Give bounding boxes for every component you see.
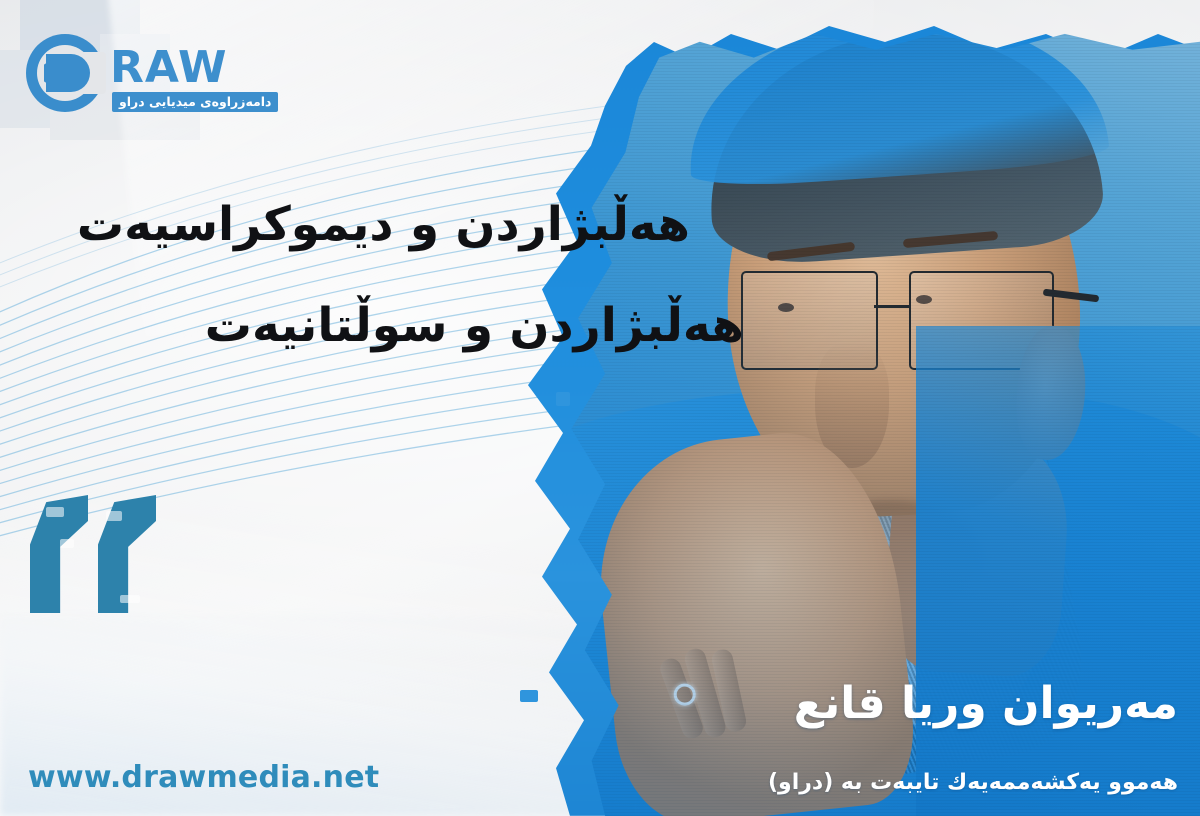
website-url[interactable]: www.drawmedia.net <box>28 760 379 795</box>
double-quote-icon <box>24 495 174 615</box>
speaker-subtitle: هەموو یەکشەممەیەك تایبەت بە (دراو) <box>538 770 1178 795</box>
quote-texture-speck <box>60 539 74 548</box>
logo-subtitle: دامەزراوەی میدیایی دراو <box>112 92 278 112</box>
logo-d-shape <box>46 54 90 92</box>
quote-glyph-right <box>98 495 156 613</box>
quote-glyph-left <box>30 495 88 613</box>
speaker-block: مەریوان وریا قانع <box>538 681 1178 727</box>
paint-speck <box>520 690 538 702</box>
quote-card: RAW دامەزراوەی میدیایی دراو هەڵبژاردن و … <box>0 0 1200 816</box>
headline-line-1: هەڵبژاردن و دیموکراسیەت <box>20 200 690 249</box>
draw-circle-d-icon <box>26 34 104 112</box>
logo-wordmark: RAW <box>110 42 228 93</box>
quote-headline: هەڵبژاردن و دیموکراسیەت هەڵبژاردن و سوڵت… <box>20 200 680 351</box>
headline-line-2: هەڵبژاردن و سوڵتانیەت <box>20 301 744 350</box>
speaker-name: مەریوان وریا قانع <box>538 681 1178 727</box>
glasses-bridge <box>874 305 909 308</box>
quote-texture-speck <box>120 595 140 603</box>
brand-logo[interactable]: RAW دامەزراوەی میدیایی دراو <box>26 32 294 114</box>
quote-texture-speck <box>106 511 122 521</box>
paint-speck <box>556 392 570 406</box>
quote-texture-speck <box>46 507 64 517</box>
